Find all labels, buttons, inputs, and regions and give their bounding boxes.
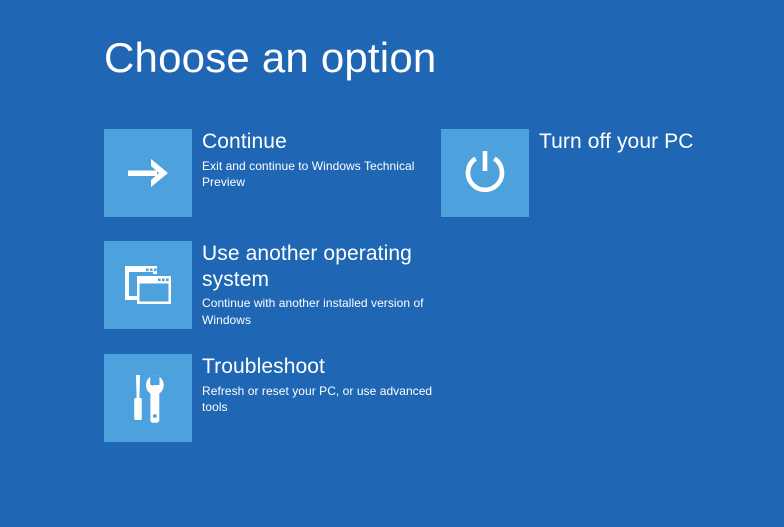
option-tile[interactable] — [104, 354, 192, 442]
option-text: Continue Exit and continue to Windows Te… — [202, 129, 442, 191]
option-tile[interactable] — [104, 129, 192, 217]
option-text: Turn off your PC — [539, 129, 779, 158]
option-use-another-operating-system[interactable]: Use another operating system Continue wi… — [104, 241, 437, 329]
option-text: Use another operating system Continue wi… — [202, 241, 437, 328]
option-heading: Turn off your PC — [539, 129, 779, 155]
option-description: Refresh or reset your PC, or use advance… — [202, 383, 442, 416]
option-continue[interactable]: Continue Exit and continue to Windows Te… — [104, 129, 442, 217]
windows-stack-icon — [122, 262, 174, 308]
option-troubleshoot[interactable]: Troubleshoot Refresh or reset your PC, o… — [104, 354, 442, 442]
option-description: Continue with another installed version … — [202, 295, 437, 328]
choose-an-option-screen: Choose an option Continue Exit and conti… — [0, 0, 784, 527]
option-description: Exit and continue to Windows Technical P… — [202, 158, 442, 191]
arrow-right-icon — [124, 153, 172, 193]
tools-icon — [125, 372, 171, 424]
option-heading: Continue — [202, 129, 442, 155]
option-tile[interactable] — [441, 129, 529, 217]
option-turn-off-your-pc[interactable]: Turn off your PC — [441, 129, 779, 217]
options-list: Continue Exit and continue to Windows Te… — [0, 0, 784, 527]
power-icon — [460, 148, 510, 198]
option-heading: Use another operating system — [202, 241, 437, 292]
option-text: Troubleshoot Refresh or reset your PC, o… — [202, 354, 442, 416]
option-tile[interactable] — [104, 241, 192, 329]
option-heading: Troubleshoot — [202, 354, 442, 380]
